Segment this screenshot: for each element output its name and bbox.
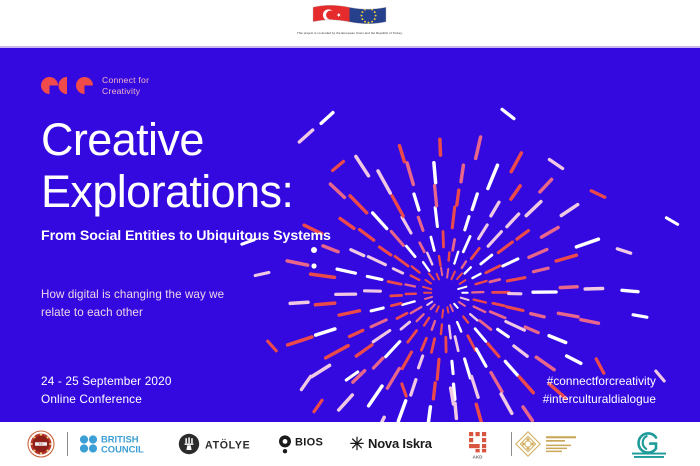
partner-logo-akd: AKD	[451, 428, 511, 460]
akd-icon: AKD	[465, 428, 497, 460]
hashtag-list: #connectforcreativity #interculturaldial…	[543, 373, 656, 408]
brand-lockup: Connect for Creativity	[41, 75, 149, 96]
partner-logo-yunus-emre-enstitusu	[612, 427, 686, 461]
headline-subtitle: From Social Entities to Ubiquitous Syste…	[41, 228, 371, 244]
funding-strip: This project is co-funded by the Europea…	[0, 0, 700, 46]
svg-text:Nova Iskra: Nova Iskra	[368, 436, 433, 451]
title-line-2: Explorations:	[41, 166, 371, 218]
svg-text:T.C.: T.C.	[38, 442, 44, 446]
event-details: 24 - 25 September 2020 Online Conference	[41, 373, 172, 408]
funding-caption: This project is co-funded by the Europea…	[297, 31, 403, 35]
partner-logo-bar: T.C. BRITISH COUNCIL	[0, 422, 700, 466]
partner-logo-nova-iskra: Nova Iskra	[347, 433, 451, 455]
connect-for-creativity-logo-icon	[41, 77, 93, 94]
atolye-icon: ATÖLYE	[178, 433, 264, 455]
svg-text:COUNCIL: COUNCIL	[101, 443, 144, 454]
svg-text:ATÖLYE: ATÖLYE	[205, 438, 250, 451]
headline-block: Creative Explorations: From Social Entit…	[41, 114, 371, 244]
ministry-seal-icon: T.C.	[27, 430, 55, 458]
partner-logo-bios: BIOS	[268, 433, 347, 455]
partner-logo-ministry-of-culture: T.C.	[14, 430, 67, 458]
svg-text:BIOS: BIOS	[295, 437, 323, 449]
hero-top-divider	[0, 46, 700, 48]
bios-icon: BIOS	[276, 433, 338, 455]
funding-flags	[312, 4, 388, 28]
conference-poster: This project is co-funded by the Europea…	[0, 0, 700, 466]
partner-logo-british-council: BRITISH COUNCIL	[68, 433, 174, 455]
svg-text:AKD: AKD	[472, 454, 483, 459]
nova-iskra-icon: Nova Iskra	[347, 433, 451, 455]
hero-panel: Connect for Creativity Creative Explorat…	[0, 46, 700, 422]
anadolu-kultur-icon	[514, 430, 610, 458]
turkey-eu-flag-icon	[312, 4, 388, 28]
title-line-1: Creative	[41, 114, 371, 166]
description-text: How digital is changing the way we relat…	[41, 286, 301, 321]
yunus-emre-icon	[622, 427, 676, 461]
brand-name: Connect for Creativity	[102, 75, 149, 96]
partner-logo-atolye: ATÖLYE	[174, 433, 268, 455]
british-council-icon: BRITISH COUNCIL	[79, 433, 163, 455]
partner-logo-anadolu-kultur	[512, 430, 613, 458]
